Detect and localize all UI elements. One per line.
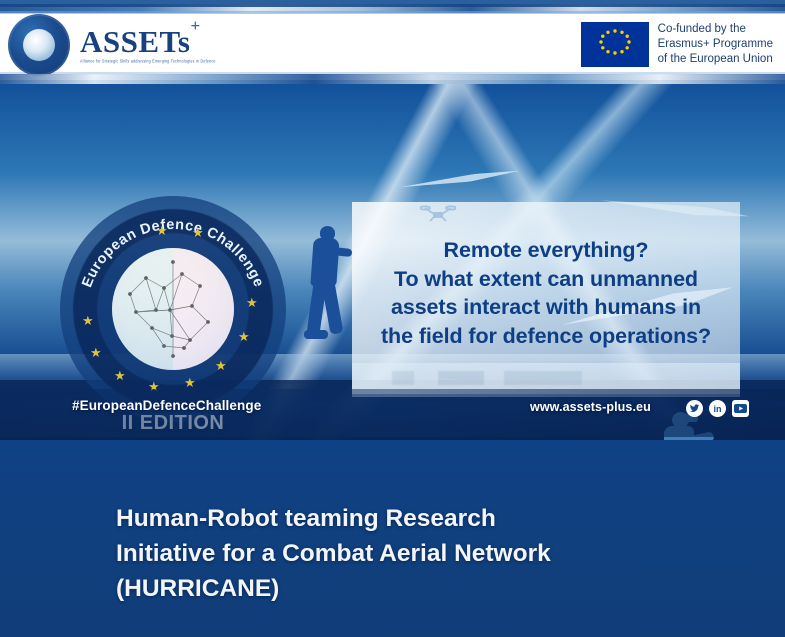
eu-funding-block: Co-funded by the Erasmus+ Programme of t… <box>581 22 773 68</box>
project-title-line-2: Initiative for a Combat Aerial Network <box>116 537 726 572</box>
eu-funding-line-2: Erasmus+ Programme <box>658 37 773 52</box>
hero-question-line-2: To what extent can unmanned <box>356 265 736 294</box>
hero-question-line-3: assets interact with humans in <box>356 293 736 322</box>
star-icon: ★ <box>184 376 196 389</box>
hashtag-label: #EuropeanDefenceChallenge <box>72 398 261 413</box>
hero-banner: Remote everything? To what extent can un… <box>0 84 785 440</box>
hero-question: Remote everything? To what extent can un… <box>356 236 736 350</box>
assets-plus-circular-logo-icon <box>8 14 70 76</box>
project-title-line-3: (HURRICANE) <box>116 572 726 607</box>
star-icon: ★ <box>192 226 204 239</box>
twitter-icon[interactable] <box>686 400 703 417</box>
star-icon: ★ <box>156 224 168 237</box>
star-icon: ★ <box>114 369 126 382</box>
star-icon: ★ <box>82 314 94 327</box>
header-bottom-decoration <box>0 74 785 84</box>
brand-tagline: Alliance for Strategic Skills addressing… <box>80 60 216 64</box>
eu-funding-text: Co-funded by the Erasmus+ Programme of t… <box>658 22 773 68</box>
drone-quadcopter-icon <box>420 202 456 226</box>
brand-lockup[interactable]: ASSETs+ Alliance for Strategic Skills ad… <box>8 14 216 76</box>
soldier-silhouette-icon <box>298 226 354 344</box>
linkedin-icon-label: in <box>714 404 722 414</box>
social-links: in <box>686 400 749 417</box>
brand-text: ASSETs+ Alliance for Strategic Skills ad… <box>80 26 216 64</box>
header-bar: ASSETs+ Alliance for Strategic Skills ad… <box>0 0 785 84</box>
star-icon: ★ <box>238 330 250 343</box>
website-link[interactable]: www.assets-plus.eu <box>530 400 651 414</box>
brand-name: ASSETs+ <box>80 26 216 57</box>
panel-faint-watermark <box>392 371 692 385</box>
youtube-icon[interactable] <box>732 400 749 417</box>
brand-name-text: ASSETs <box>80 24 190 59</box>
project-title-line-1: Human-Robot teaming Research <box>116 502 726 537</box>
hero-question-line-1: Remote everything? <box>356 236 736 265</box>
project-title: Human-Robot teaming Research Initiative … <box>116 502 726 606</box>
banner-footer-strip <box>0 389 785 437</box>
brand-plus-superscript: + <box>190 16 200 35</box>
eu-funding-line-1: Co-funded by the <box>658 22 773 37</box>
logo-swoosh-icon <box>26 40 52 56</box>
linkedin-icon[interactable]: in <box>709 400 726 417</box>
project-title-section: Human-Robot teaming Research Initiative … <box>0 440 785 637</box>
header-top-decoration <box>0 4 785 13</box>
star-icon: ★ <box>215 359 227 372</box>
eu-funding-line-3: of the European Union <box>658 52 773 67</box>
european-union-flag-icon <box>581 22 649 67</box>
star-icon: ★ <box>90 346 102 359</box>
poster-page: ASSETs+ Alliance for Strategic Skills ad… <box>0 0 785 637</box>
hero-question-line-4: the field for defence operations? <box>356 322 736 351</box>
star-icon: ★ <box>246 296 258 309</box>
